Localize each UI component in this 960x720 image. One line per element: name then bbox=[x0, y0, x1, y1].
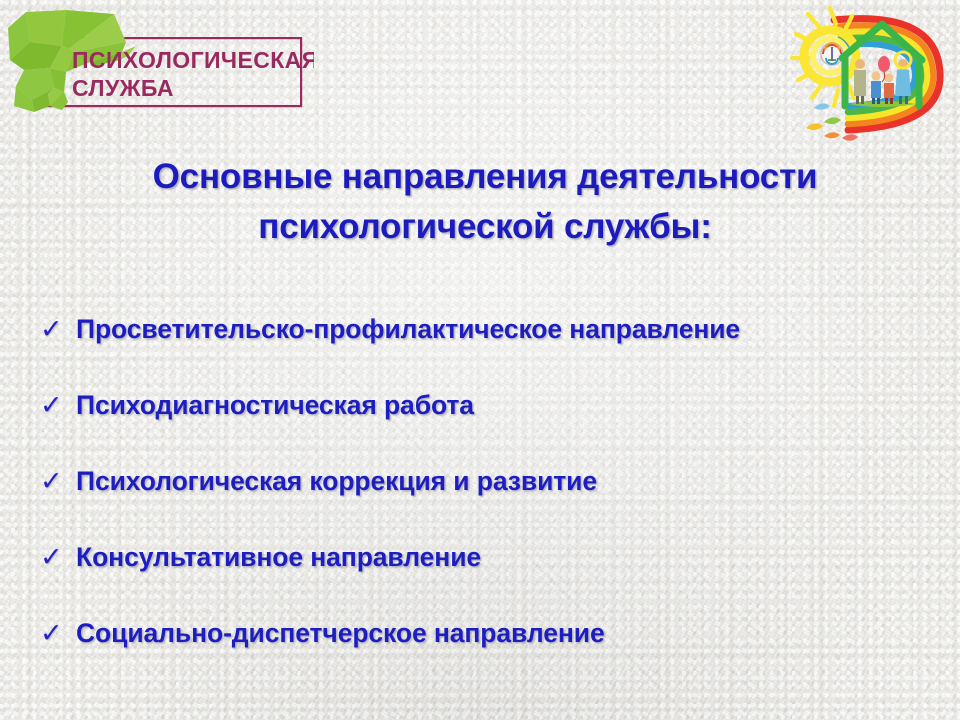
list-item-label: Консультативное направление bbox=[76, 540, 934, 574]
activity-directions-list: ✓ Просветительско-профилактическое напра… bbox=[34, 312, 934, 692]
check-mark-icon: ✓ bbox=[34, 312, 76, 346]
list-item: ✓ Психологическая коррекция и развитие bbox=[34, 464, 934, 540]
psychological-service-logo: ПСИХОЛОГИЧЕСКАЯ СЛУЖБА bbox=[4, 6, 314, 124]
check-mark-icon: ✓ bbox=[34, 540, 76, 574]
list-item: ✓ Социально-диспетчерское направление bbox=[34, 616, 934, 692]
page-title: Основные направления деятельности психол… bbox=[50, 152, 920, 251]
page-title-line-2: психологической службы: bbox=[50, 202, 920, 252]
check-mark-icon: ✓ bbox=[34, 616, 76, 650]
list-item: ✓ Консультативное направление bbox=[34, 540, 934, 616]
list-item-label: Просветительско-профилактическое направл… bbox=[76, 312, 934, 346]
logo-wordmark-line2: СЛУЖБА bbox=[72, 75, 174, 101]
sun-house-rainbow-logo bbox=[790, 2, 958, 146]
list-item-label: Психологическая коррекция и развитие bbox=[76, 464, 934, 498]
check-mark-icon: ✓ bbox=[34, 464, 76, 498]
list-item: ✓ Психодиагностическая работа bbox=[34, 388, 934, 464]
psychological-service-logo-svg: ПСИХОЛОГИЧЕСКАЯ СЛУЖБА bbox=[4, 6, 314, 124]
emblem-icon bbox=[821, 43, 843, 65]
list-item: ✓ Просветительско-профилактическое напра… bbox=[34, 312, 934, 388]
list-item-label: Психодиагностическая работа bbox=[76, 388, 934, 422]
slide-canvas: ПСИХОЛОГИЧЕСКАЯ СЛУЖБА bbox=[0, 0, 960, 720]
list-item-label: Социально-диспетчерское направление bbox=[76, 616, 934, 650]
sun-house-rainbow-logo-svg bbox=[790, 2, 958, 146]
page-title-line-1: Основные направления деятельности bbox=[50, 152, 920, 202]
check-mark-icon: ✓ bbox=[34, 388, 76, 422]
logo-wordmark-line1: ПСИХОЛОГИЧЕСКАЯ bbox=[72, 47, 314, 73]
